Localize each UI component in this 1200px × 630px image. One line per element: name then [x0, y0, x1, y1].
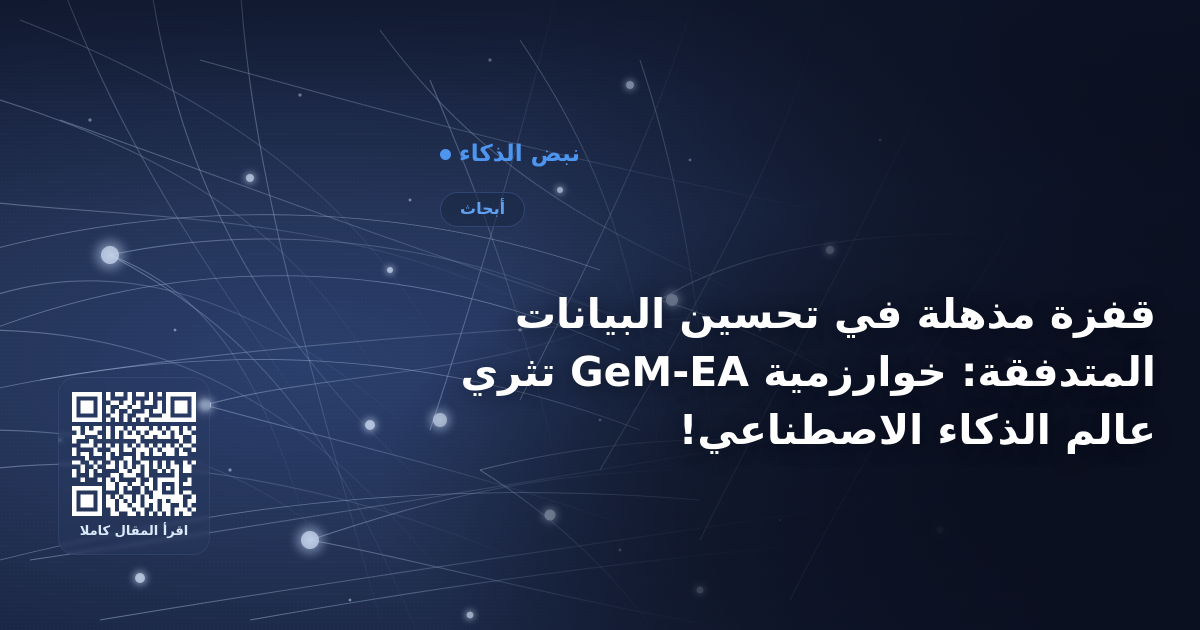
category-badge[interactable]: أبحاث: [440, 192, 525, 227]
content-column: نبض الذكاء أبحاث قفزة مذهلة في تحسين الب…: [440, 0, 1200, 630]
brand-dot-icon: [440, 149, 451, 160]
qr-code-icon[interactable]: [72, 392, 196, 516]
qr-card[interactable]: اقرأ المقال كاملا: [58, 377, 210, 555]
brand: نبض الذكاء: [440, 143, 580, 166]
page-title: قفزة مذهلة في تحسين البيانات المتدفقة: خ…: [440, 285, 1156, 460]
social-share-card: نبض الذكاء أبحاث قفزة مذهلة في تحسين الب…: [0, 0, 1200, 630]
qr-caption: اقرأ المقال كاملا: [80, 525, 189, 538]
brand-name: نبض الذكاء: [459, 143, 580, 166]
